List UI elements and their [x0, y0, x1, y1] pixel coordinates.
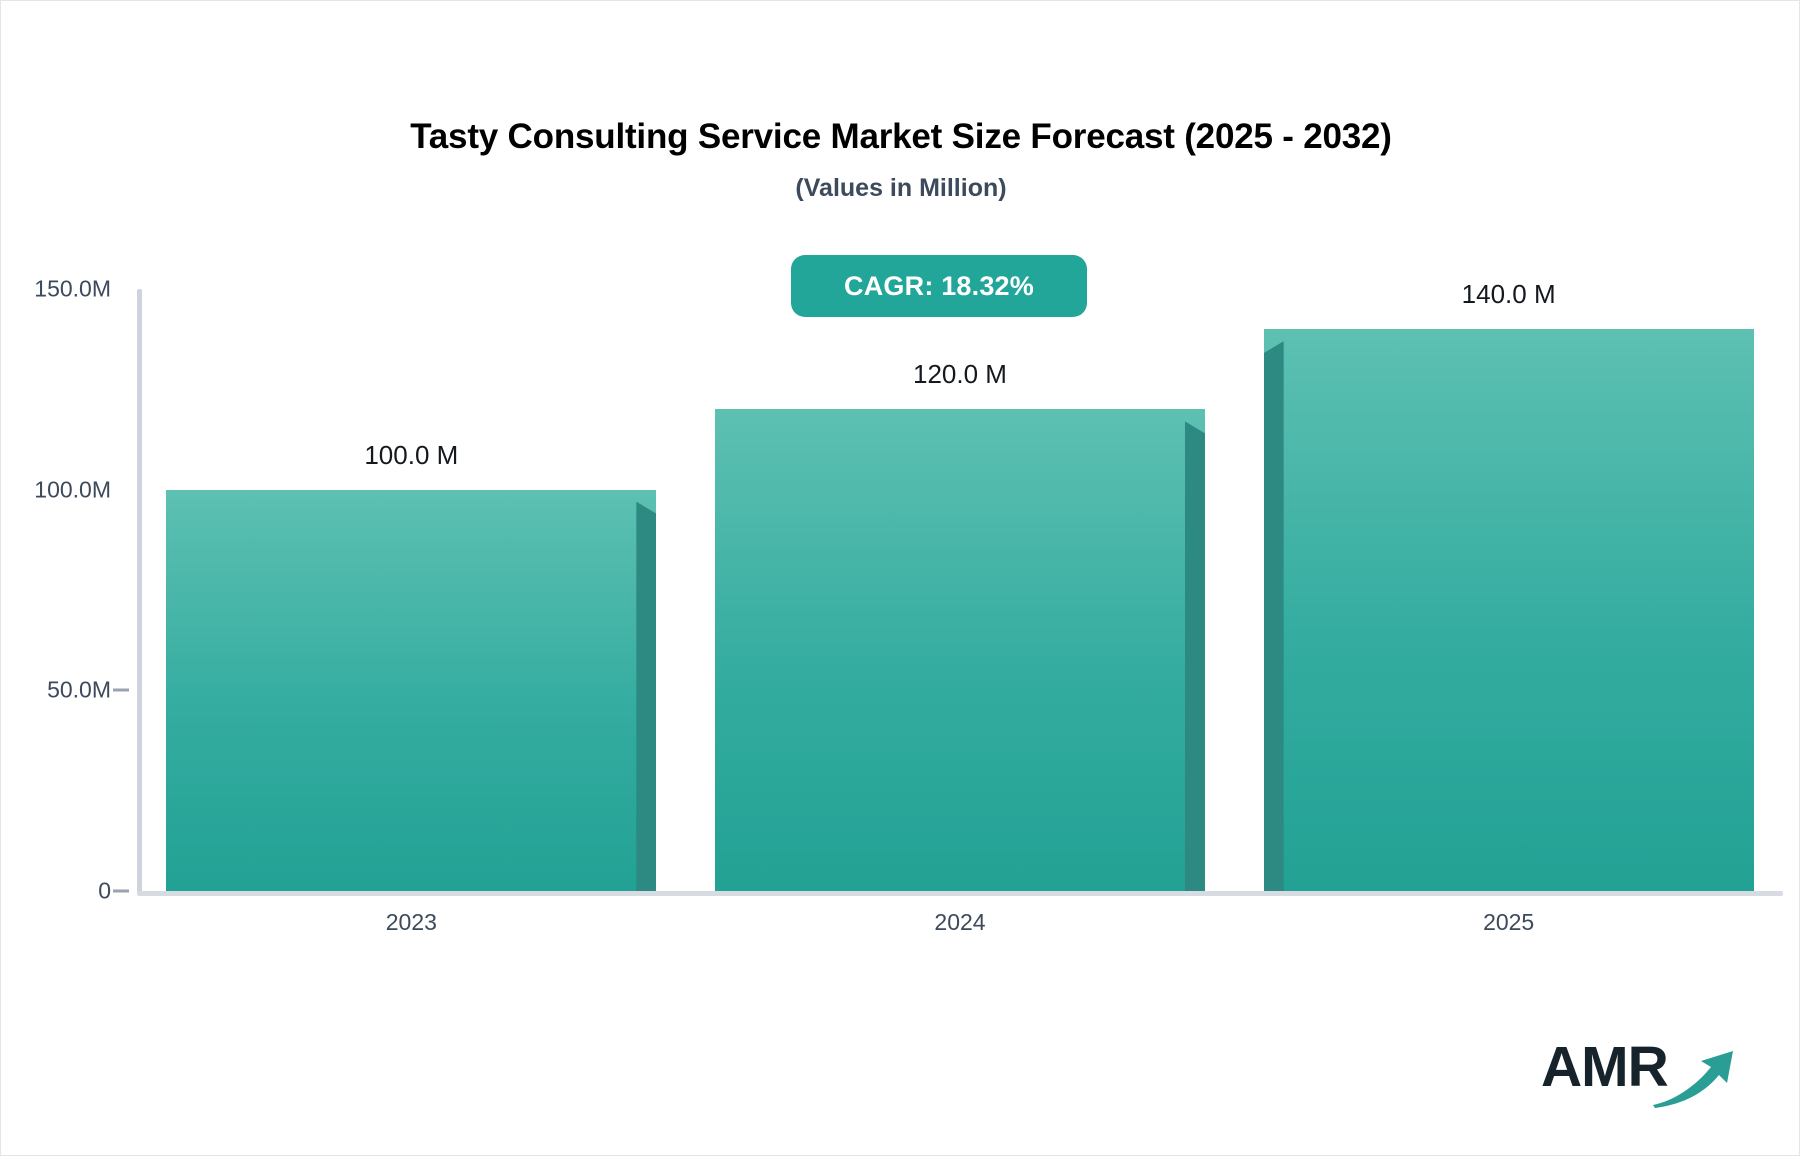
- bar: [1264, 329, 1754, 891]
- bar-value-label: 120.0 M: [800, 361, 1120, 387]
- y-axis-tick-mark: [113, 689, 129, 692]
- chart-card: Tasty Consulting Service Market Size For…: [0, 0, 1800, 1156]
- bar-front-face: [715, 409, 1205, 891]
- bar-depth-face: [1264, 341, 1284, 891]
- y-axis-tick-label: 150.0M: [1, 278, 111, 301]
- amr-logo: AMR: [1541, 1035, 1731, 1113]
- cagr-badge: CAGR: 18.32%: [791, 255, 1087, 317]
- bar: [715, 409, 1205, 891]
- x-axis-tick-label: 2024: [840, 911, 1080, 934]
- y-axis-tick-mark: [113, 890, 129, 893]
- bar-front-face: [1264, 329, 1754, 891]
- x-axis-line: [137, 891, 1783, 896]
- y-axis-tick-label: 0: [1, 880, 111, 903]
- bar-depth-face: [1185, 421, 1205, 891]
- bar-value-label: 140.0 M: [1349, 281, 1669, 307]
- amr-logo-text: AMR: [1541, 1039, 1668, 1096]
- y-axis-tick-label: 50.0M: [1, 679, 111, 702]
- cagr-badge-label: CAGR: 18.32%: [844, 271, 1034, 302]
- y-axis-tick-label: 100.0M: [1, 478, 111, 501]
- bar-front-face: [166, 490, 656, 891]
- bar: [166, 490, 656, 891]
- plot-area: 050.0M100.0M150.0M 202320242025 100.0 M1…: [1, 1, 1800, 1156]
- x-axis-tick-label: 2023: [291, 911, 531, 934]
- x-axis-tick-label: 2025: [1389, 911, 1629, 934]
- y-axis-line: [137, 289, 142, 895]
- bar-value-label: 100.0 M: [251, 442, 571, 468]
- bar-depth-face: [636, 502, 656, 891]
- growth-arrow-icon: [1651, 1045, 1737, 1109]
